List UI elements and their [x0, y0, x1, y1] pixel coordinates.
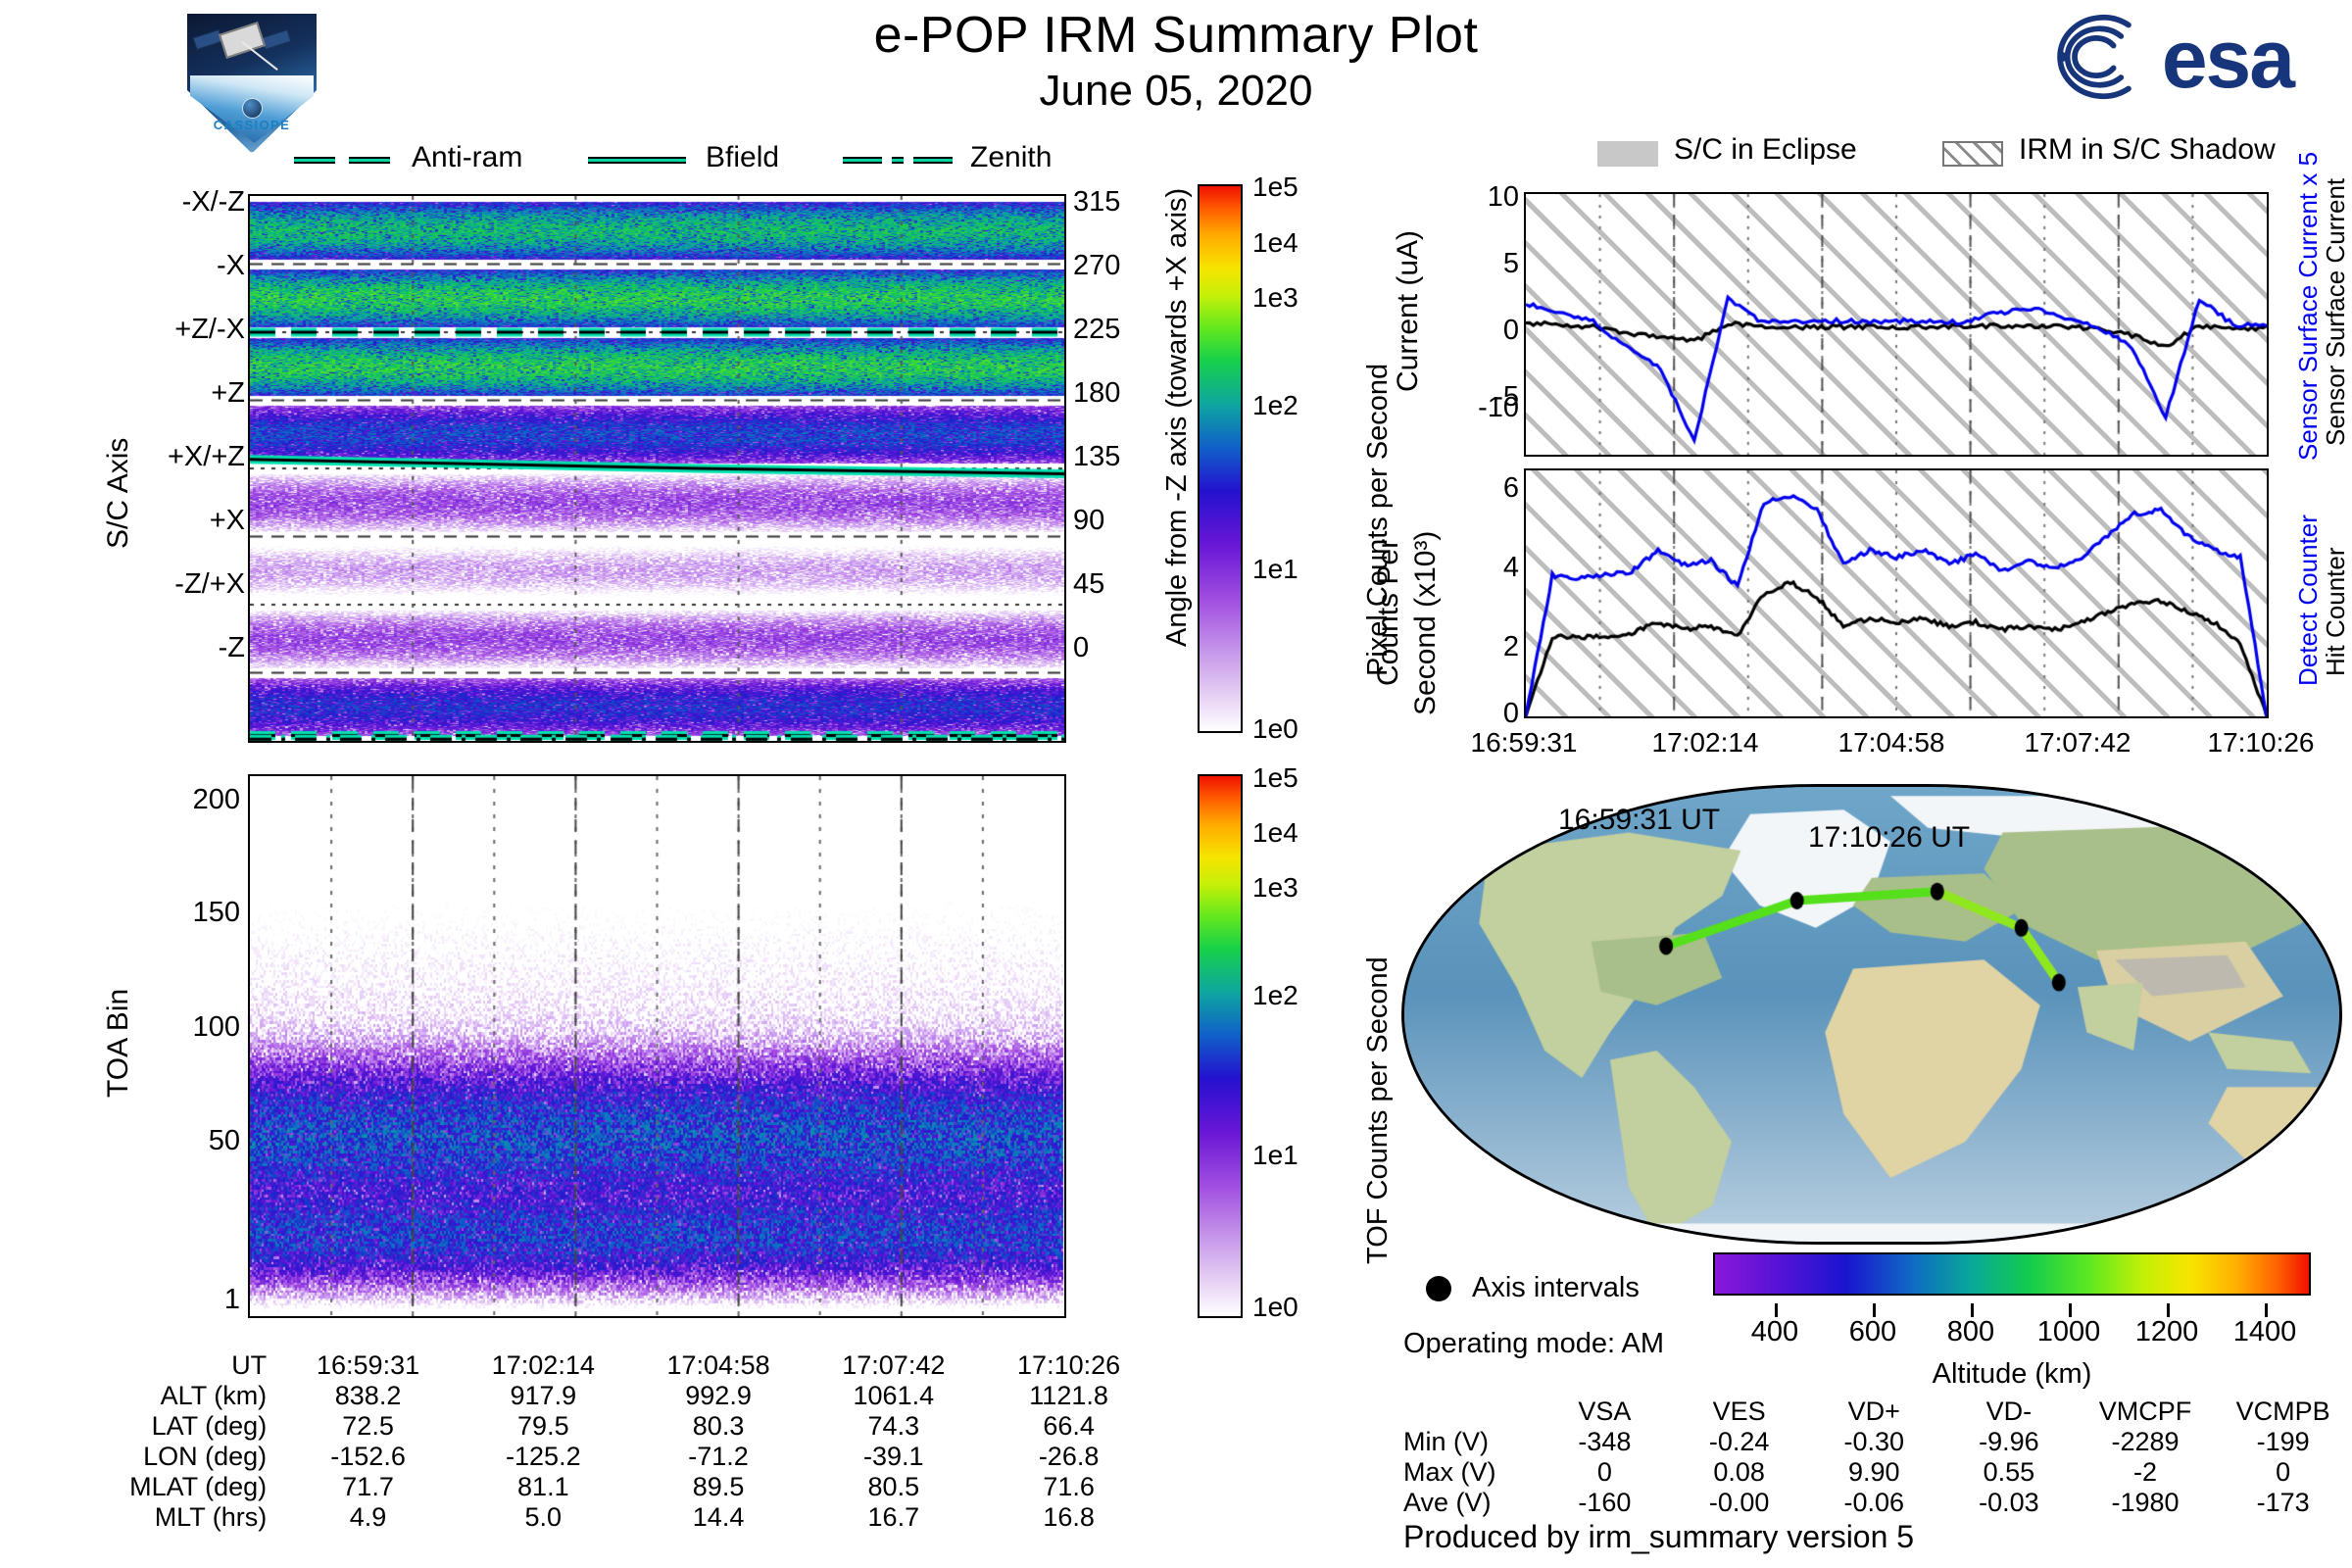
counts-ytick-6: 6: [1421, 472, 1519, 505]
legend-swatch-zenith-dash: [843, 157, 882, 164]
voltage-row: Ave (V)-160-0.00-0.06-0.03-1980-173: [1403, 1488, 2352, 1518]
counts-xtick-0: 16:59:31: [1441, 727, 1607, 759]
ephemeris-row: MLT (hrs)4.95.014.416.716.8: [39, 1502, 1156, 1533]
page-title: e-POP IRM Summary Plot: [0, 6, 2352, 65]
axis-interval-marker-icon: [1426, 1276, 1451, 1301]
current-right-label-blue: Sensor Surface Current x 5: [2293, 152, 2324, 461]
toa-bin-spectrogram[interactable]: [248, 774, 1066, 1318]
ephemeris-cell: 17:07:42: [806, 1350, 981, 1381]
legend-swatch-anti-ram-dash2: [349, 157, 390, 164]
operating-mode-label: Operating mode: AM: [1403, 1328, 1664, 1360]
voltage-cell: 9.90: [1806, 1457, 1941, 1488]
voltage-column-header: VMCPF: [2077, 1396, 2215, 1427]
ephemeris-cell: 81.1: [456, 1472, 631, 1502]
cassiope-mission-patch-logo: CASSIOPE: [178, 8, 325, 155]
counts-xtick-4: 17:10:26: [2178, 727, 2344, 759]
tof-cb-tick-1e0: 1e0: [1252, 1292, 1298, 1323]
sc-axis-angle-tick-45: 45: [1073, 568, 1151, 601]
legend-swatch-eclipse: [1597, 141, 1658, 167]
counts-xtick-2: 17:04:58: [1808, 727, 1975, 759]
voltage-header-row: VSAVESVD+VD-VMCPFVCMPB: [1403, 1396, 2352, 1427]
altitude-colorbar-label: Altitude (km): [1713, 1358, 2311, 1391]
legend-swatch-bfield: [588, 157, 686, 164]
ephemeris-row: MLAT (deg)71.781.189.580.571.6: [39, 1472, 1156, 1502]
voltage-column-header: VES: [1672, 1396, 1807, 1427]
voltage-column-header: VD+: [1806, 1396, 1941, 1427]
current-ytick-10: 10: [1421, 181, 1519, 214]
sc-axis-ytick-+z--x: +Z/-X: [118, 314, 245, 346]
axis-intervals-legend-label: Axis intervals: [1472, 1272, 1640, 1304]
voltage-cell: -0.03: [1941, 1488, 2077, 1518]
esa-arc-icon: [2029, 14, 2138, 100]
page-subtitle: June 05, 2020: [0, 67, 2352, 116]
voltage-cell: -160: [1538, 1488, 1672, 1518]
ephemeris-cell: 4.9: [280, 1502, 456, 1533]
ephemeris-cell: 17:02:14: [456, 1350, 631, 1381]
tof-cb-tick-1e4: 1e4: [1252, 817, 1298, 849]
pixel-counts-colorbar[interactable]: [1198, 184, 1243, 733]
ephemeris-cell: 71.7: [280, 1472, 456, 1502]
ephemeris-cell: -39.1: [806, 1442, 981, 1472]
legend-label-bfield: Bfield: [706, 141, 779, 174]
counts-ylabel-line1: Counts Per: [1372, 539, 1405, 686]
voltage-cell: -2289: [2077, 1427, 2215, 1457]
voltage-cell: -199: [2214, 1427, 2352, 1457]
tof-counts-colorbar[interactable]: [1198, 774, 1243, 1318]
legend-swatch-zenith-dot: [892, 157, 904, 164]
counts-xtick-3: 17:07:42: [1994, 727, 2161, 759]
sc-axis-ytick-+z: +Z: [118, 377, 245, 410]
voltage-cell: -2: [2077, 1457, 2215, 1488]
tof-cb-tick-1e2: 1e2: [1252, 980, 1298, 1011]
sc-axis-angle-tick-90: 90: [1073, 505, 1151, 537]
esa-logo: esa: [2029, 8, 2293, 102]
ephemeris-cell: -125.2: [456, 1442, 631, 1472]
pixel-cb-tick-1e0: 1e0: [1252, 713, 1298, 745]
voltage-cell: -0.24: [1672, 1427, 1807, 1457]
ephemeris-row-label: UT: [39, 1350, 280, 1381]
toa-ytick-150: 150: [127, 897, 240, 929]
legend-swatch-anti-ram-dash1: [294, 157, 335, 164]
altitude-colorbar[interactable]: [1713, 1252, 2311, 1296]
alt-cb-tick-800: 800: [1922, 1316, 2020, 1348]
pixel-cb-tick-1e5: 1e5: [1252, 171, 1298, 203]
ephemeris-cell: 14.4: [631, 1502, 807, 1533]
voltage-cell: -1980: [2077, 1488, 2215, 1518]
legend-label-shadow: IRM in S/C Shadow: [2019, 133, 2276, 167]
pixel-cb-tick-1e3: 1e3: [1252, 282, 1298, 314]
sc-axis-angle-tick-315: 315: [1073, 186, 1151, 219]
ephemeris-row: ALT (km)838.2917.9992.91061.41121.8: [39, 1381, 1156, 1411]
ephemeris-cell: 17:04:58: [631, 1350, 807, 1381]
ephemeris-row-label: LAT (deg): [39, 1411, 280, 1442]
ephemeris-cell: 1121.8: [981, 1381, 1156, 1411]
alt-cb-tick-1400: 1400: [2216, 1316, 2314, 1348]
voltage-summary-table: VSAVESVD+VD-VMCPFVCMPBMin (V)-348-0.24-0…: [1403, 1396, 2352, 1518]
ephemeris-cell: 992.9: [631, 1381, 807, 1411]
legend-label-zenith: Zenith: [970, 141, 1052, 174]
legend-swatch-shadow: [1942, 141, 2003, 167]
counts-right-label-black: Hit Counter: [2321, 548, 2351, 677]
ephemeris-cell: 80.3: [631, 1411, 807, 1442]
patch-name-label: CASSIOPE: [178, 118, 325, 132]
current-right-label-black: Sensor Surface Current: [2321, 178, 2351, 446]
current-ylabel: Current (uA): [1392, 230, 1425, 392]
toa-ytick-50: 50: [127, 1125, 240, 1157]
tof-counts-colorbar-label: TOF Counts per Second: [1362, 956, 1395, 1264]
legend-label-anti-ram: Anti-ram: [412, 141, 522, 174]
ephemeris-cell: -152.6: [280, 1442, 456, 1472]
sc-axis-angle-tick-135: 135: [1073, 441, 1151, 473]
ephemeris-row: LON (deg)-152.6-125.2-71.2-39.1-26.8: [39, 1442, 1156, 1472]
voltage-cell: 0: [2214, 1457, 2352, 1488]
counts-ytick-4: 4: [1421, 552, 1519, 584]
counts-ytick-0: 0: [1421, 698, 1519, 730]
ephemeris-cell: 16.8: [981, 1502, 1156, 1533]
shading-legend: S/C in Eclipse IRM in S/C Shadow: [1597, 137, 2342, 171]
pixel-cb-tick-1e2: 1e2: [1252, 390, 1298, 421]
ephemeris-cell: 79.5: [456, 1411, 631, 1442]
map-start-time-label: 16:59:31 UT: [1558, 804, 1720, 837]
ephemeris-row: UT16:59:3117:02:1417:04:5817:07:4217:10:…: [39, 1350, 1156, 1381]
ephemeris-row-label: MLT (hrs): [39, 1502, 280, 1533]
voltage-column-header: VCMPB: [2214, 1396, 2352, 1427]
ephemeris-row-label: LON (deg): [39, 1442, 280, 1472]
voltage-cell: -348: [1538, 1427, 1672, 1457]
sc-axis-ytick--x: -X: [118, 250, 245, 282]
voltage-cell: -173: [2214, 1488, 2352, 1518]
voltage-cell: 0.08: [1672, 1457, 1807, 1488]
voltage-column-header: VSA: [1538, 1396, 1672, 1427]
ephemeris-cell: 16.7: [806, 1502, 981, 1533]
toa-ytick-200: 200: [127, 784, 240, 816]
voltage-row-label: Max (V): [1403, 1457, 1538, 1488]
voltage-cell: -0.30: [1806, 1427, 1941, 1457]
alt-cb-tick-600: 600: [1824, 1316, 1922, 1348]
pixel-cb-tick-1e4: 1e4: [1252, 227, 1298, 259]
produced-by-footer: Produced by irm_summary version 5: [1403, 1519, 1914, 1555]
ephemeris-cell: 17:10:26: [981, 1350, 1156, 1381]
esa-wordmark: esa: [2162, 12, 2293, 107]
ephemeris-cell: 16:59:31: [280, 1350, 456, 1381]
toa-ytick-100: 100: [127, 1011, 240, 1044]
voltage-cell: -0.00: [1672, 1488, 1807, 1518]
voltage-row: Max (V)00.089.900.55-20: [1403, 1457, 2352, 1488]
sc-axis-right-ylabel: Angle from -Z axis (towards +X axis): [1161, 188, 1194, 647]
voltage-corner-cell: [1403, 1396, 1538, 1427]
pixel-cb-tick-1e1: 1e1: [1252, 554, 1298, 585]
sc-axis-angle-tick-0: 0: [1073, 632, 1151, 664]
ephemeris-cell: 838.2: [280, 1381, 456, 1411]
sc-axis-ytick-+x: +X: [118, 505, 245, 537]
ephemeris-cell: -71.2: [631, 1442, 807, 1472]
sc-axis-ytick--z: -Z: [118, 632, 245, 664]
ephemeris-cell: 71.6: [981, 1472, 1156, 1502]
voltage-row-label: Min (V): [1403, 1427, 1538, 1457]
voltage-column-header: VD-: [1941, 1396, 2077, 1427]
sc-axis-angle-tick-270: 270: [1073, 250, 1151, 282]
sc-axis-ytick--x--z: -X/-Z: [118, 186, 245, 219]
current-ytick-5: 5: [1421, 248, 1519, 280]
tof-cb-tick-1e3: 1e3: [1252, 872, 1298, 904]
counts-ytick-2: 2: [1421, 631, 1519, 663]
sc-axis-ytick-+x-+z: +X/+Z: [118, 441, 245, 473]
voltage-cell: 0.55: [1941, 1457, 2077, 1488]
counts-right-label-blue: Detect Counter: [2293, 514, 2324, 686]
alt-cb-tick-1200: 1200: [2118, 1316, 2216, 1348]
altitude-colorbar-ticks: [1713, 1303, 2311, 1315]
ephemeris-cell: 5.0: [456, 1502, 631, 1533]
sc-axis-angle-tick-180: 180: [1073, 377, 1151, 410]
voltage-cell: -0.06: [1806, 1488, 1941, 1518]
ephemeris-cell: -26.8: [981, 1442, 1156, 1472]
voltage-row-label: Ave (V): [1403, 1488, 1538, 1518]
ephemeris-row: LAT (deg)72.579.580.374.366.4: [39, 1411, 1156, 1442]
current-ytick-0: 0: [1421, 315, 1519, 347]
ephemeris-row-label: MLAT (deg): [39, 1472, 280, 1502]
voltage-cell: -9.96: [1941, 1427, 2077, 1457]
ephemeris-cell: 74.3: [806, 1411, 981, 1442]
current-ytick--10: -10: [1392, 392, 1519, 424]
alt-cb-tick-1000: 1000: [2020, 1316, 2118, 1348]
ephemeris-cell: 72.5: [280, 1411, 456, 1442]
current-plot[interactable]: [1524, 192, 2269, 457]
tof-cb-tick-1e1: 1e1: [1252, 1140, 1298, 1171]
legend-label-eclipse: S/C in Eclipse: [1674, 133, 1857, 167]
toa-ytick-1: 1: [127, 1284, 240, 1316]
ephemeris-cell: 917.9: [456, 1381, 631, 1411]
map-end-time-label: 17:10:26 UT: [1808, 821, 1970, 855]
ephemeris-cell: 1061.4: [806, 1381, 981, 1411]
ephemeris-cell: 89.5: [631, 1472, 807, 1502]
counts-plot[interactable]: [1524, 468, 2269, 718]
voltage-cell: 0: [1538, 1457, 1672, 1488]
sc-axis-angle-tick-225: 225: [1073, 314, 1151, 346]
legend-swatch-zenith-dash2: [913, 157, 953, 164]
ephemeris-cell: 66.4: [981, 1411, 1156, 1442]
voltage-row: Min (V)-348-0.24-0.30-9.96-2289-199: [1403, 1427, 2352, 1457]
sc-axis-spectrogram[interactable]: [248, 194, 1066, 743]
ephemeris-row-label: ALT (km): [39, 1381, 280, 1411]
tof-cb-tick-1e5: 1e5: [1252, 762, 1298, 794]
ephemeris-table: UT16:59:3117:02:1417:04:5817:07:4217:10:…: [39, 1350, 1156, 1533]
counts-xtick-1: 17:02:14: [1622, 727, 1788, 759]
alt-cb-tick-400: 400: [1726, 1316, 1824, 1348]
ephemeris-cell: 80.5: [806, 1472, 981, 1502]
axis-overlay-legend: Anti-ram Bfield Zenith: [294, 145, 1000, 178]
sc-axis-ytick--z-+x: -Z/+X: [118, 568, 245, 601]
